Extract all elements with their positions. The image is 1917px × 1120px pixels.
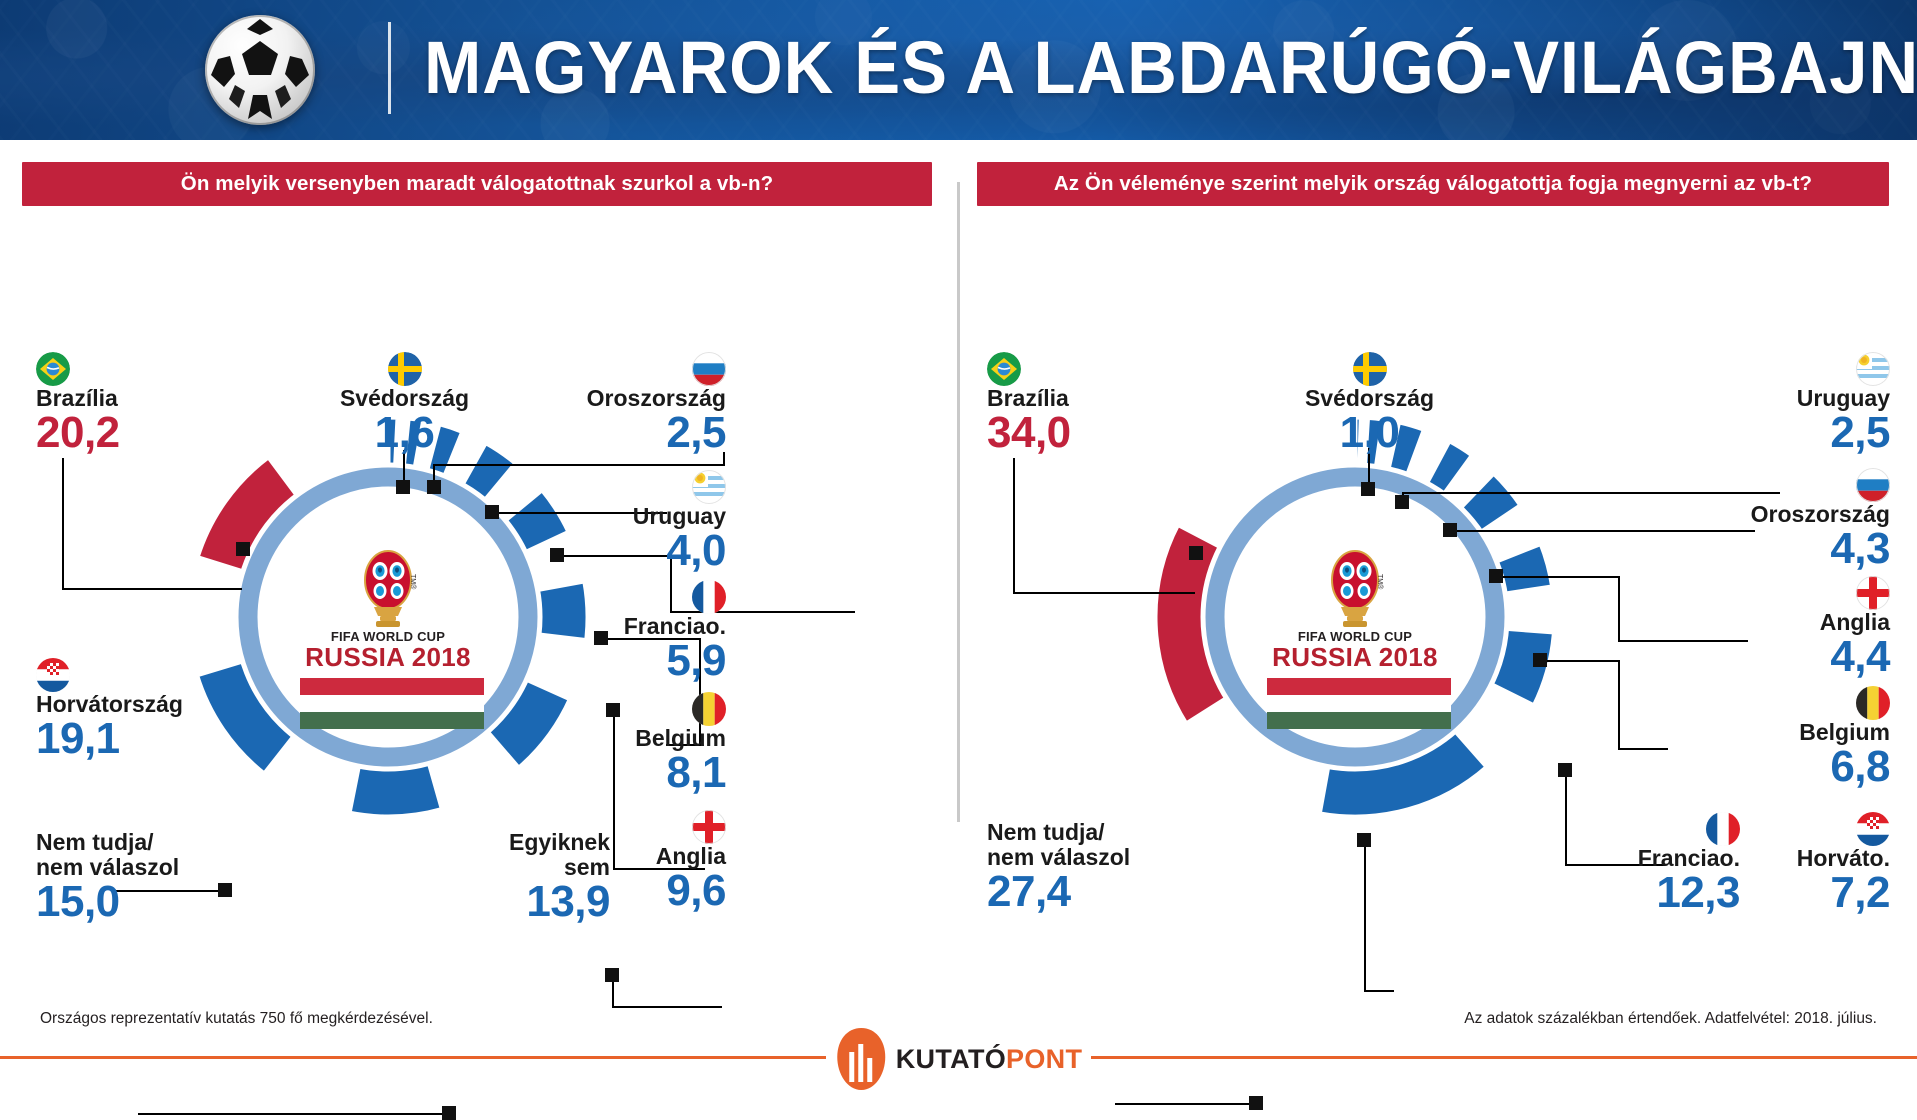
footer-rule-left bbox=[0, 1056, 826, 1059]
label-value: 20,2 bbox=[36, 411, 120, 454]
header-divider bbox=[388, 22, 391, 114]
leader-brazilia bbox=[62, 458, 64, 590]
label-value: 1,6 bbox=[312, 411, 497, 454]
footer-right-note: Az adatok százalékban értendőek. Adatfel… bbox=[1464, 1010, 1877, 1028]
label-horvatorszag: Horvátország 19,1 bbox=[36, 658, 183, 760]
label-uruguay: Uruguay 4,0 bbox=[600, 470, 726, 572]
kutatopont-mark-icon bbox=[835, 1026, 887, 1092]
label-value: 2,5 bbox=[560, 411, 726, 454]
label-nem-tudja-r: Nem tudja/ nem válaszol 27,4 bbox=[987, 820, 1130, 913]
russia-2018-text: RUSSIA 2018 bbox=[300, 644, 476, 671]
label-nem-tudja: Nem tudja/ nem válaszol 15,0 bbox=[36, 830, 179, 923]
right-panel: Az Ön véleménye szerint melyik ország vá… bbox=[965, 140, 1917, 1010]
label-belgium-r: Belgium 6,8 bbox=[1755, 686, 1890, 788]
footer-rule-right bbox=[1091, 1056, 1917, 1059]
label-value: 12,3 bbox=[1615, 871, 1740, 914]
left-question-bar: Ön melyik versenyben maradt válogatottna… bbox=[22, 162, 932, 206]
leader-oroszorszag-r bbox=[1450, 530, 1755, 532]
brazil-flag-icon bbox=[36, 352, 70, 386]
right-world-cup-logo: TM® FIFA WORLD CUP RUSSIA 2018 bbox=[1267, 550, 1443, 729]
sweden-flag-icon bbox=[1353, 352, 1387, 386]
label-oroszorszag-r: Oroszország 4,3 bbox=[1725, 468, 1890, 570]
marker-oroszorszag-r bbox=[1443, 523, 1457, 537]
marker-svedorszag bbox=[396, 480, 410, 494]
label-value: 2,5 bbox=[1755, 411, 1890, 454]
label-anglia: Anglia 9,6 bbox=[620, 810, 726, 912]
soccer-ball-icon bbox=[205, 15, 315, 125]
marker-anglia-r bbox=[1489, 569, 1503, 583]
world-cup-trophy-icon: TM® bbox=[356, 550, 420, 628]
leader-anglia-r-h1 bbox=[1496, 576, 1620, 578]
russia-2018-text: RUSSIA 2018 bbox=[1267, 644, 1443, 671]
marker-nem-tudja bbox=[442, 1106, 456, 1120]
marker-horvatorszag bbox=[218, 883, 232, 897]
croatia-flag-icon bbox=[1856, 812, 1890, 846]
left-world-cup-logo: TM® FIFA WORLD CUP RUSSIA 2018 bbox=[300, 550, 476, 729]
russia-flag-icon bbox=[692, 352, 726, 386]
svg-text:TM®: TM® bbox=[409, 574, 417, 590]
label-svedorszag-r: Svédország 1,0 bbox=[1277, 352, 1462, 454]
infographic-page: MAGYAROK ÉS A LABDARÚGÓ-VILÁGBAJNOKSÁG Ö… bbox=[0, 0, 1917, 1079]
label-value: 19,1 bbox=[36, 717, 183, 760]
label-value: 4,4 bbox=[1765, 635, 1890, 678]
label-value: 34,0 bbox=[987, 411, 1071, 454]
marker-nem-tudja-r bbox=[1249, 1096, 1263, 1110]
sweden-flag-icon bbox=[388, 352, 422, 386]
label-belgium: Belgium 8,1 bbox=[600, 692, 726, 794]
marker-oroszorszag bbox=[427, 480, 441, 494]
footer-left-note: Országos reprezentatív kutatás 750 fő me… bbox=[40, 1010, 433, 1028]
leader-egyiknek-h bbox=[612, 1006, 722, 1008]
label-franciao-r: Franciao. 12,3 bbox=[1615, 812, 1740, 914]
leader-brazilia-h bbox=[62, 588, 242, 590]
leader-anglia-r-v bbox=[1618, 576, 1620, 642]
label-oroszorszag: Oroszország 2,5 bbox=[560, 352, 726, 454]
label-name-line2: nem válaszol bbox=[987, 845, 1130, 870]
label-name-line1: Egyiknek bbox=[470, 830, 610, 855]
england-flag-icon bbox=[1856, 576, 1890, 610]
label-brazilia: Brazília 20,2 bbox=[36, 352, 120, 454]
left-panel: Ön melyik versenyben maradt válogatottna… bbox=[0, 140, 952, 1010]
label-uruguay-r: Uruguay 2,5 bbox=[1755, 352, 1890, 454]
label-value: 8,1 bbox=[600, 751, 726, 794]
leader-horvato-r-v bbox=[1565, 770, 1567, 866]
label-anglia-r: Anglia 4,4 bbox=[1765, 576, 1890, 678]
page-header: MAGYAROK ÉS A LABDARÚGÓ-VILÁGBAJNOKSÁG bbox=[0, 0, 1917, 140]
marker-brazilia-r bbox=[1189, 546, 1203, 560]
label-value: 4,0 bbox=[600, 529, 726, 572]
england-flag-icon bbox=[692, 810, 726, 844]
leader-belgium-r-v bbox=[1618, 660, 1620, 750]
brazil-flag-icon bbox=[987, 352, 1021, 386]
world-cup-trophy-icon: TM® bbox=[1323, 550, 1387, 628]
marker-brazilia bbox=[236, 542, 250, 556]
croatia-flag-icon bbox=[36, 658, 70, 692]
panel-divider bbox=[957, 182, 960, 822]
svg-text:TM®: TM® bbox=[1376, 574, 1384, 590]
label-value: 13,9 bbox=[470, 880, 610, 923]
label-franciao: Franciao. 5,9 bbox=[600, 580, 726, 682]
uruguay-flag-icon bbox=[1856, 352, 1890, 386]
label-brazilia-r: Brazília 34,0 bbox=[987, 352, 1071, 454]
kutatopont-wordmark: KUTATÓPONT bbox=[896, 1044, 1082, 1075]
label-name-line1: Nem tudja/ bbox=[987, 820, 1130, 845]
label-horvato-r: Horváto. 7,2 bbox=[1765, 812, 1890, 914]
belgium-flag-icon bbox=[692, 692, 726, 726]
marker-belgium-r bbox=[1533, 653, 1547, 667]
label-value: 6,8 bbox=[1755, 745, 1890, 788]
label-value: 15,0 bbox=[36, 880, 179, 923]
label-value: 4,3 bbox=[1725, 527, 1890, 570]
marker-uruguay-r bbox=[1395, 495, 1409, 509]
leader-brazilia-r-h bbox=[1013, 592, 1195, 594]
page-title: MAGYAROK ÉS A LABDARÚGÓ-VILÁGBAJNOKSÁG bbox=[424, 20, 1917, 116]
marker-horvato-r bbox=[1558, 763, 1572, 777]
marker-uruguay bbox=[485, 505, 499, 519]
hungary-flag-icon bbox=[300, 678, 484, 729]
label-egyiknek-sem: Egyiknek sem 13,9 bbox=[470, 830, 610, 923]
label-name-line2: nem válaszol bbox=[36, 855, 179, 880]
label-value: 1,0 bbox=[1277, 411, 1462, 454]
russia-flag-icon bbox=[1856, 468, 1890, 502]
marker-franciao-r bbox=[1357, 833, 1371, 847]
leader-franciao-r-v bbox=[1364, 840, 1366, 992]
leader-nem-tudja-r bbox=[1115, 1103, 1255, 1105]
leader-nem-tudja bbox=[138, 1113, 448, 1115]
uruguay-flag-icon bbox=[692, 470, 726, 504]
marker-franciao bbox=[550, 548, 564, 562]
label-value: 9,6 bbox=[620, 869, 726, 912]
label-value: 27,4 bbox=[987, 870, 1130, 913]
leader-oroszorszag-h bbox=[433, 464, 725, 466]
leader-uruguay-r-h bbox=[1402, 492, 1780, 494]
leader-brazilia-r bbox=[1013, 458, 1015, 594]
leader-belgium-r-h bbox=[1618, 748, 1668, 750]
leader-anglia2-r bbox=[1540, 660, 1620, 662]
label-value: 5,9 bbox=[600, 639, 726, 682]
france-flag-icon bbox=[1706, 812, 1740, 846]
kutatopont-logo[interactable]: KUTATÓPONT bbox=[835, 1026, 1082, 1092]
label-name-line2: sem bbox=[470, 855, 610, 880]
label-value: 7,2 bbox=[1765, 871, 1890, 914]
label-svedorszag: Svédország 1,6 bbox=[312, 352, 497, 454]
belgium-flag-icon bbox=[1856, 686, 1890, 720]
france-flag-icon bbox=[692, 580, 726, 614]
hungary-flag-icon bbox=[1267, 678, 1451, 729]
leader-anglia-r-h2 bbox=[1618, 640, 1748, 642]
leader-franciao-r-h bbox=[1364, 990, 1394, 992]
label-name-line1: Nem tudja/ bbox=[36, 830, 179, 855]
right-question-bar: Az Ön véleménye szerint melyik ország vá… bbox=[977, 162, 1889, 206]
marker-egyiknek bbox=[605, 968, 619, 982]
brand-first-part: KUTATÓ bbox=[896, 1044, 1006, 1074]
marker-svedorszag-r bbox=[1361, 482, 1375, 496]
brand-second-part: PONT bbox=[1006, 1044, 1082, 1074]
